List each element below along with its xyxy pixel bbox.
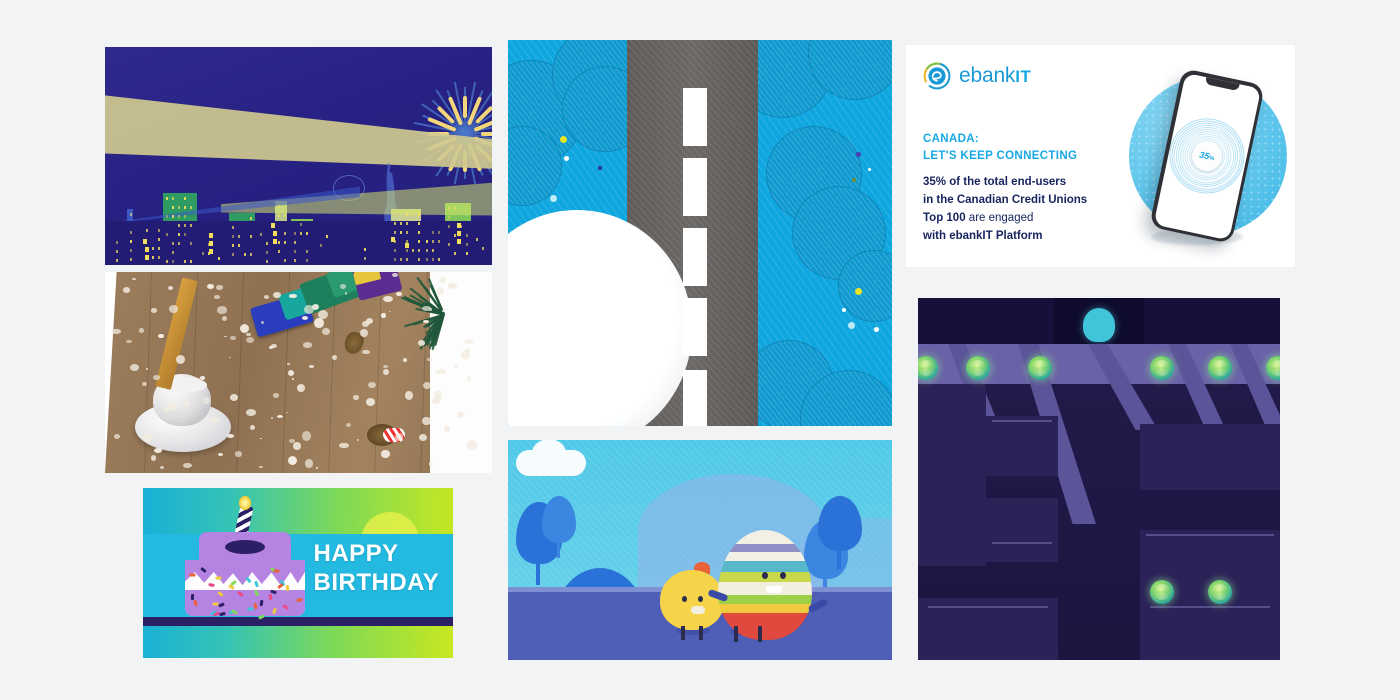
building-window [432, 231, 434, 234]
building-window [158, 229, 160, 232]
building-window [250, 235, 252, 238]
building-window [432, 249, 434, 252]
snow-particle [339, 443, 348, 448]
building-window [438, 258, 440, 261]
building-window [244, 253, 246, 256]
snow-particle [235, 451, 242, 456]
building-window [284, 259, 286, 262]
snow-particle [151, 308, 157, 312]
building-window [232, 253, 234, 256]
collectible-orb [1150, 356, 1174, 380]
cake-top-hole [225, 540, 265, 554]
chick-eye-right [698, 596, 703, 602]
egg-stripe [718, 604, 812, 613]
gallery-tile-platformer-game[interactable] [918, 298, 1280, 660]
game-block-right-a [1140, 424, 1280, 490]
snow-particle [154, 448, 162, 453]
ebankit-logo[interactable]: ebankIT [922, 61, 1031, 91]
snow-particle [314, 318, 323, 328]
building-window [232, 226, 234, 229]
building-window [466, 234, 468, 237]
egg-stripe [718, 552, 812, 561]
building-window [476, 238, 478, 241]
egg-mouth [766, 586, 782, 593]
game-block-left-a [986, 416, 1058, 476]
snow-particle [288, 456, 297, 465]
egg-stripe [718, 582, 812, 595]
flame-icon [239, 496, 251, 510]
game-edge-highlight-2 [992, 542, 1052, 544]
egg-eye-right [780, 572, 786, 579]
snow-particle [357, 439, 359, 441]
building-window [172, 197, 174, 200]
game-edge-highlight-1 [992, 420, 1052, 422]
building-window [158, 238, 160, 241]
building-window [271, 223, 275, 228]
gallery-tile-happy-birthday[interactable]: HAPPY BIRTHDAY [143, 488, 453, 658]
ebankit-headline: CANADA: LET'S KEEP CONNECTING [923, 131, 1077, 164]
building-window [278, 205, 280, 208]
snow-particle [395, 433, 403, 440]
egg-eye-left [762, 572, 768, 579]
birthday-dark-stripe [143, 617, 453, 626]
snow-particle [467, 440, 476, 450]
headline-line-2: LET'S KEEP CONNECTING [923, 148, 1077, 165]
building-window [158, 256, 160, 259]
snow-particle [227, 434, 233, 438]
snow-particle [246, 409, 256, 416]
snow-particle [439, 277, 445, 283]
ebankit-wordmark: ebankIT [959, 64, 1031, 88]
building-window [166, 233, 168, 236]
egg-leg-left [734, 626, 738, 642]
building-window [238, 235, 240, 238]
snow-particle [183, 463, 192, 468]
building-window [143, 239, 147, 244]
building-window [146, 229, 148, 232]
building-window [391, 237, 395, 242]
building-window [406, 249, 408, 252]
snow-particle [429, 462, 434, 465]
building-window [406, 258, 408, 261]
building-window [166, 197, 168, 200]
building-window [300, 232, 302, 235]
snow-particle [114, 434, 120, 439]
gallery-tile-snowy-deck[interactable] [105, 272, 492, 473]
body-line-3: Top 100 are engaged [923, 209, 1087, 227]
chick-body [660, 570, 724, 630]
building-window [278, 250, 280, 253]
chick-eye-left [682, 596, 687, 602]
building-window [394, 258, 396, 261]
building-window [172, 215, 174, 218]
building-window [454, 207, 456, 210]
building-window [364, 248, 366, 251]
collectible-orb [1150, 580, 1174, 604]
building-window [184, 197, 186, 200]
building-window [454, 234, 456, 237]
headline-line-1: CANADA: [923, 131, 1077, 148]
building-window [178, 242, 180, 245]
snow-particle [123, 287, 130, 293]
building-window [306, 259, 308, 262]
player-blob-character [1083, 308, 1115, 342]
building-window [432, 240, 434, 243]
building-window [405, 243, 409, 248]
building-window [209, 241, 213, 246]
building-window [184, 224, 186, 227]
building-window [412, 213, 414, 216]
snow-particle [444, 426, 450, 431]
snow-particle [132, 278, 136, 280]
building-window [448, 207, 450, 210]
building-window [116, 250, 118, 253]
snow-particle [392, 273, 397, 277]
building-window [306, 250, 308, 253]
building-window [116, 259, 118, 262]
snow-particle [427, 358, 432, 360]
building-window [482, 247, 484, 250]
building-window [294, 259, 296, 262]
building-window [284, 241, 286, 244]
body-line-1: 35% of the total end-users [923, 173, 1087, 191]
lane-dash [683, 228, 707, 286]
road-accent-dot [874, 327, 879, 332]
cake-sprinkle [269, 594, 272, 600]
building-window [130, 231, 132, 234]
building-window [130, 258, 132, 261]
building-window [209, 249, 213, 254]
toy-hat-icon [352, 272, 382, 285]
snow-particle [340, 284, 346, 289]
snow-particle [230, 336, 236, 340]
phone-notch [1205, 77, 1240, 91]
building-window [457, 239, 461, 244]
snow-particle [240, 324, 249, 333]
snow-particle [316, 467, 318, 469]
building-window [273, 239, 277, 244]
building-window [130, 240, 132, 243]
snow-particle [362, 350, 370, 355]
snow-particle [353, 395, 359, 399]
snow-particle [360, 329, 368, 337]
cake-sprinkle [248, 608, 254, 611]
building-window [130, 213, 132, 216]
snow-particle [448, 283, 456, 289]
egg-leg-right [758, 626, 762, 642]
building-window [152, 256, 154, 259]
snow-particle [200, 376, 205, 379]
tree-trunk [557, 533, 560, 558]
building-window [130, 249, 132, 252]
building-window [238, 244, 240, 247]
easter-egg-character [718, 530, 812, 640]
snow-particle [158, 334, 163, 339]
building-window [406, 222, 408, 225]
building-window [426, 258, 428, 261]
building-window [418, 213, 420, 216]
building-window [178, 215, 180, 218]
snow-particle [287, 363, 290, 365]
building-window [306, 232, 308, 235]
collectible-orb [1028, 356, 1052, 380]
firework-spark [481, 132, 492, 136]
snow-particle [151, 455, 156, 461]
egg-stripe [718, 595, 812, 604]
building-window [294, 241, 296, 244]
building-window [218, 257, 220, 260]
building-window [418, 258, 420, 261]
building-window [438, 240, 440, 243]
snow-particle [434, 390, 442, 396]
building-window [438, 231, 440, 234]
building-window [284, 214, 286, 217]
chick-leg-left [681, 626, 685, 640]
building-window [145, 255, 149, 260]
building-window [232, 235, 234, 238]
building-window [278, 214, 280, 217]
building-window [116, 241, 118, 244]
birthday-line-2: BIRTHDAY [314, 568, 440, 597]
road-accent-dot [564, 156, 569, 161]
cake-sprinkle [215, 576, 221, 579]
building-window [184, 260, 186, 263]
snow-particle [457, 411, 464, 418]
snow-particle [302, 431, 311, 441]
snow-particle [423, 382, 431, 389]
snow-particle [261, 321, 264, 324]
snow-particle [169, 402, 177, 411]
cake-base-layer [185, 590, 305, 616]
snow-particle [303, 342, 312, 347]
pine-branch-icon [398, 274, 490, 354]
snow-particle [422, 417, 430, 425]
birthday-cake [185, 532, 305, 618]
building-window [400, 258, 402, 261]
building-window [178, 206, 180, 209]
road-accent-dot [855, 288, 862, 295]
cake-sprinkle [219, 611, 226, 615]
building-window [190, 260, 192, 263]
game-edge-highlight-3 [1146, 534, 1274, 536]
building-window [418, 249, 420, 252]
collectible-orb [966, 356, 990, 380]
building-window [466, 243, 468, 246]
road-accent-dot [598, 166, 602, 170]
cake-sprinkle [274, 570, 280, 573]
gallery-tile-nyc-night-skyline[interactable] [105, 47, 492, 265]
egg-stripe [718, 544, 812, 552]
road-accent-dot [560, 136, 567, 143]
percentage-value: 35% [1198, 150, 1215, 163]
egg-stripe [718, 613, 812, 640]
building-window [273, 231, 277, 236]
snow-particle [383, 365, 388, 368]
building-window [152, 247, 154, 250]
snow-particle [142, 382, 147, 386]
snow-particle [381, 313, 386, 317]
snow-particle [396, 292, 402, 295]
building-window [166, 260, 168, 263]
snow-particle [273, 393, 279, 398]
gallery-tile-top-down-road[interactable] [508, 40, 892, 426]
building-window [454, 252, 456, 255]
ebankit-e-mark-icon [922, 61, 952, 91]
collectible-orb [1208, 580, 1232, 604]
snow-particle [289, 294, 296, 298]
building-window [250, 253, 252, 256]
building-window [178, 233, 180, 236]
building-window [172, 206, 174, 209]
snow-particle [403, 358, 407, 362]
snow-particle [332, 355, 337, 360]
building-window [172, 251, 174, 254]
game-edge-highlight-5 [1150, 606, 1270, 608]
building-window [466, 252, 468, 255]
building-window [284, 232, 286, 235]
snow-particle [405, 391, 413, 399]
ebankit-body-copy: 35% of the total end-users in the Canadi… [923, 173, 1087, 246]
building-window [432, 258, 434, 261]
building-window [294, 232, 296, 235]
building-window [448, 225, 450, 228]
egg-stripe [718, 561, 812, 572]
tree [818, 496, 862, 566]
building-window [232, 244, 234, 247]
lane-dash [683, 158, 707, 216]
cloud-icon [516, 450, 586, 476]
snow-particle [419, 434, 427, 441]
road-accent-dot [856, 152, 861, 157]
building-window [172, 260, 174, 263]
snow-particle [196, 378, 200, 381]
building-window [184, 233, 186, 236]
building-window [394, 249, 396, 252]
body-line-2: in the Canadian Credit Unions [923, 191, 1087, 209]
building-window [209, 233, 213, 238]
snow-particle [176, 355, 185, 364]
building-window [448, 243, 450, 246]
building-window [158, 247, 160, 250]
snow-particle [197, 422, 202, 428]
building-window [448, 216, 450, 219]
snow-particle [288, 370, 294, 376]
building-window [418, 222, 420, 225]
snow-particle [210, 417, 219, 422]
building-window [266, 251, 268, 254]
building-window [394, 231, 396, 234]
road-accent-dot [550, 195, 557, 202]
building-window [250, 217, 252, 220]
building-window [190, 206, 192, 209]
building-window [266, 242, 268, 245]
snow-particle [381, 450, 389, 458]
lane-dash [683, 88, 707, 146]
firework-spark [463, 96, 467, 118]
building-window [145, 247, 149, 252]
building-window [426, 249, 428, 252]
building-window [418, 231, 420, 234]
building-window [172, 242, 174, 245]
snow-particle [246, 337, 254, 343]
building-window [266, 260, 268, 263]
tree-trunk [536, 552, 540, 586]
building-window [326, 235, 328, 238]
game-edge-highlight-4 [928, 606, 1048, 608]
tree-trunk [837, 539, 841, 568]
snow-particle [438, 369, 446, 374]
building-window [418, 240, 420, 243]
birthday-line-1: HAPPY [314, 539, 440, 568]
road-accent-dot [842, 308, 846, 312]
cake-sprinkle [212, 602, 218, 605]
chick-leg-right [699, 626, 703, 640]
snow-particle [383, 369, 389, 375]
snow-particle [273, 292, 280, 298]
building-window [202, 252, 204, 255]
building-window [184, 206, 186, 209]
building-window [294, 250, 296, 253]
building-window [406, 231, 408, 234]
road-accent-dot [868, 168, 871, 171]
snow-particle [437, 287, 445, 294]
snow-particle [302, 316, 308, 320]
building-window [400, 231, 402, 234]
portfolio-gallery: HAPPY BIRTHDAY [0, 0, 1400, 700]
building-window [364, 257, 366, 260]
snow-particle [383, 296, 393, 302]
road-accent-dot [848, 322, 855, 329]
gallery-tile-ebankit-infographic[interactable]: 35% ebankIT CANADA: LET'S KEEP CONNECTIN… [906, 45, 1295, 267]
gallery-tile-easter-chick-egg[interactable] [508, 440, 892, 660]
building-window [400, 222, 402, 225]
snow-particle [218, 453, 223, 456]
snow-particle [269, 346, 273, 349]
building-window [457, 223, 461, 228]
building-window [190, 224, 192, 227]
snow-particle [264, 295, 269, 299]
building-window [426, 240, 428, 243]
cake-sprinkle [190, 594, 193, 600]
birthday-greeting-text: HAPPY BIRTHDAY [314, 539, 440, 598]
snow-particle [217, 306, 227, 313]
building-window [190, 242, 192, 245]
collectible-orb [1208, 356, 1232, 380]
building-window [394, 222, 396, 225]
building-window [320, 244, 322, 247]
building-window [406, 213, 408, 216]
snow-particle [216, 285, 223, 291]
building-window [412, 249, 414, 252]
lane-dash [683, 370, 707, 426]
egg-stripe [718, 530, 812, 544]
building-window [260, 233, 262, 236]
cake-sprinkle [190, 574, 196, 577]
building-window [184, 215, 186, 218]
building-window [166, 215, 168, 218]
building-window [300, 223, 302, 226]
body-line-4: with ebankIT Platform [923, 227, 1087, 245]
game-block-left-b [986, 498, 1058, 562]
road-accent-dot [852, 178, 856, 182]
snow-particle [362, 321, 369, 327]
snow-particle [168, 286, 173, 289]
snow-particle [207, 284, 214, 289]
snow-particle [322, 328, 330, 335]
building-window [278, 241, 280, 244]
building-window [457, 231, 461, 236]
snow-particle [222, 316, 227, 321]
